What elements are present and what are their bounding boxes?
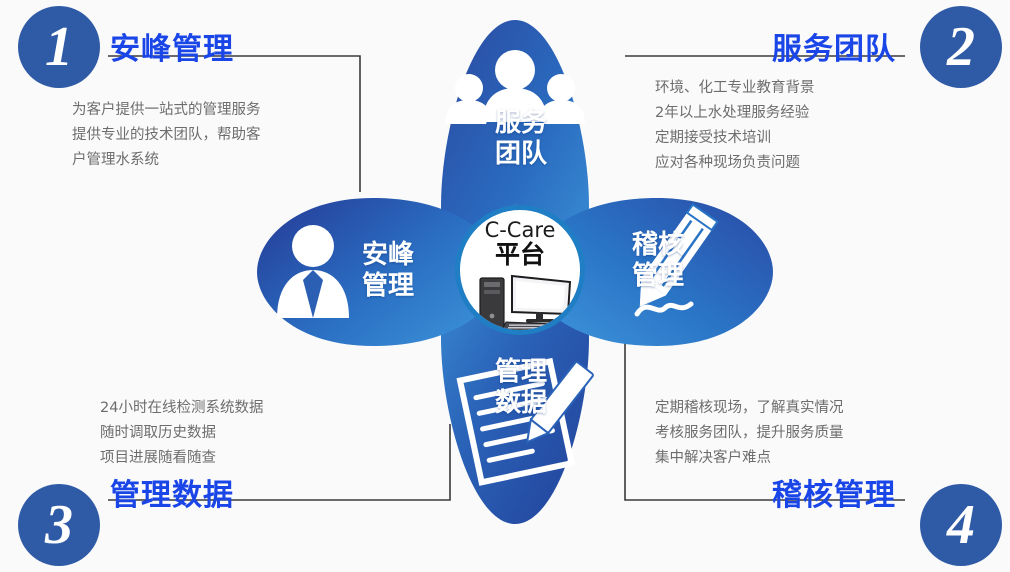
body-line: 提供专业的技术团队，帮助客: [72, 123, 261, 148]
body-line: 考核服务团队，提升服务质量: [655, 421, 844, 446]
section-body-4: 定期稽核现场，了解真实情况考核服务团队，提升服务质量集中解决客户难点: [655, 396, 844, 471]
desktop-computer-icon: [476, 272, 574, 334]
step-badge-3: 3: [18, 484, 100, 566]
body-line: 项目进展随看随查: [100, 446, 263, 471]
step-badge-2: 2: [920, 6, 1002, 88]
step-badge-1: 1: [18, 6, 100, 88]
section-body-1: 为客户提供一站式的管理服务提供专业的技术团队，帮助客户管理水系统: [72, 98, 261, 173]
body-line: 户管理水系统: [72, 148, 261, 173]
section-body-2: 环境、化工专业教育背景2年以上水处理服务经验定期接受技术培训应对各种现场负责问题: [655, 76, 815, 176]
step-badge-4: 4: [920, 484, 1002, 566]
body-line: 环境、化工专业教育背景: [655, 76, 815, 101]
body-line: 集中解决客户难点: [655, 446, 844, 471]
petal-label-right: 稽核 管理: [615, 230, 701, 292]
section-heading-4: 稽核管理: [772, 470, 896, 514]
center-hub[interactable]: C-Care 平台: [455, 205, 585, 335]
petal-label-left: 安峰 管理: [345, 240, 431, 302]
section-heading-1: 安峰管理: [110, 24, 234, 68]
body-line: 应对各种现场负责问题: [655, 151, 815, 176]
body-line: 2年以上水处理服务经验: [655, 101, 815, 126]
body-line: 定期稽核现场，了解真实情况: [655, 396, 844, 421]
infographic-canvas: 服务 团队 安峰 管理 稽核 管理 管理 数据 C-Care 平台 1: [0, 0, 1010, 572]
section-body-3: 24小时在线检测系统数据随时调取历史数据项目进展随看随查: [100, 396, 263, 471]
body-line: 随时调取历史数据: [100, 421, 263, 446]
hub-subtitle: 平台: [460, 241, 580, 269]
body-line: 为客户提供一站式的管理服务: [72, 98, 261, 123]
section-heading-3: 管理数据: [110, 470, 234, 514]
petal-label-bottom: 管理 数据: [478, 357, 564, 419]
body-line: 定期接受技术培训: [655, 126, 815, 151]
petal-label-top: 服务 团队: [478, 108, 564, 170]
body-line: 24小时在线检测系统数据: [100, 396, 263, 421]
section-heading-2: 服务团队: [772, 24, 896, 68]
